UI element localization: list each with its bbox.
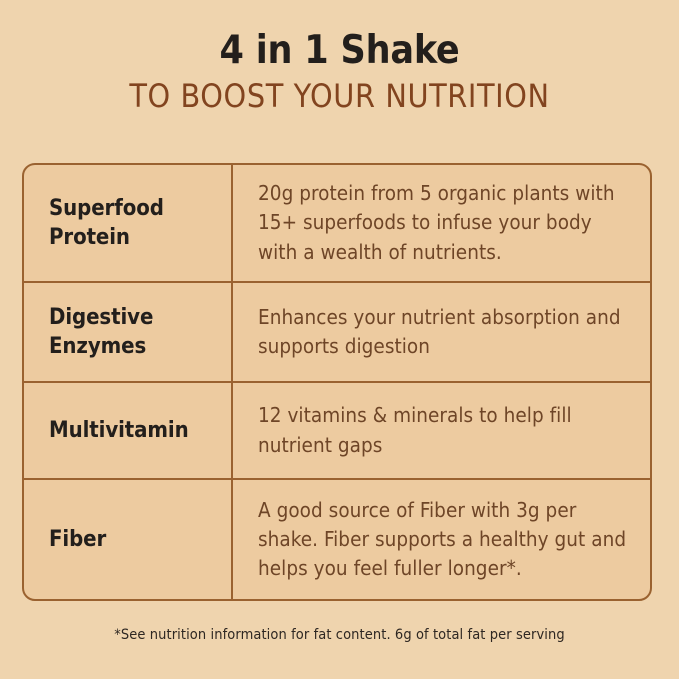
table-cell-label: Fiber [24, 480, 233, 599]
benefit-name: Fiber [49, 525, 106, 554]
infographic-page: 4 in 1 Shake TO BOOST YOUR NUTRITION Sup… [0, 0, 679, 679]
table-cell-label: DigestiveEnzymes [24, 283, 233, 381]
table-cell-label: Multivitamin [24, 383, 233, 478]
table-row: DigestiveEnzymes Enhances your nutrient … [24, 283, 650, 383]
heading-block: 4 in 1 Shake TO BOOST YOUR NUTRITION [0, 30, 679, 114]
table-cell-description: A good source of Fiber with 3g per shake… [233, 480, 650, 599]
benefit-description: A good source of Fiber with 3g per shake… [258, 496, 628, 583]
table-cell-description: 20g protein from 5 organic plants with 1… [233, 165, 650, 281]
page-subtitle: TO BOOST YOUR NUTRITION [0, 79, 679, 114]
table-row: Fiber A good source of Fiber with 3g per… [24, 480, 650, 599]
table-cell-label: SuperfoodProtein [24, 165, 233, 281]
table-row: Multivitamin 12 vitamins & minerals to h… [24, 383, 650, 480]
benefit-name: DigestiveEnzymes [49, 303, 153, 361]
benefit-description: Enhances your nutrient absorption and su… [258, 303, 628, 361]
table-cell-description: Enhances your nutrient absorption and su… [233, 283, 650, 381]
benefit-name: SuperfoodProtein [49, 194, 164, 252]
footnote: *See nutrition information for fat conte… [0, 627, 679, 643]
table-cell-description: 12 vitamins & minerals to help fill nutr… [233, 383, 650, 478]
page-title: 4 in 1 Shake [0, 30, 679, 73]
benefit-name: Multivitamin [49, 416, 189, 445]
benefit-description: 20g protein from 5 organic plants with 1… [258, 179, 628, 266]
table-row: SuperfoodProtein 20g protein from 5 orga… [24, 165, 650, 283]
benefits-table: SuperfoodProtein 20g protein from 5 orga… [22, 163, 652, 601]
benefit-description: 12 vitamins & minerals to help fill nutr… [258, 401, 628, 459]
